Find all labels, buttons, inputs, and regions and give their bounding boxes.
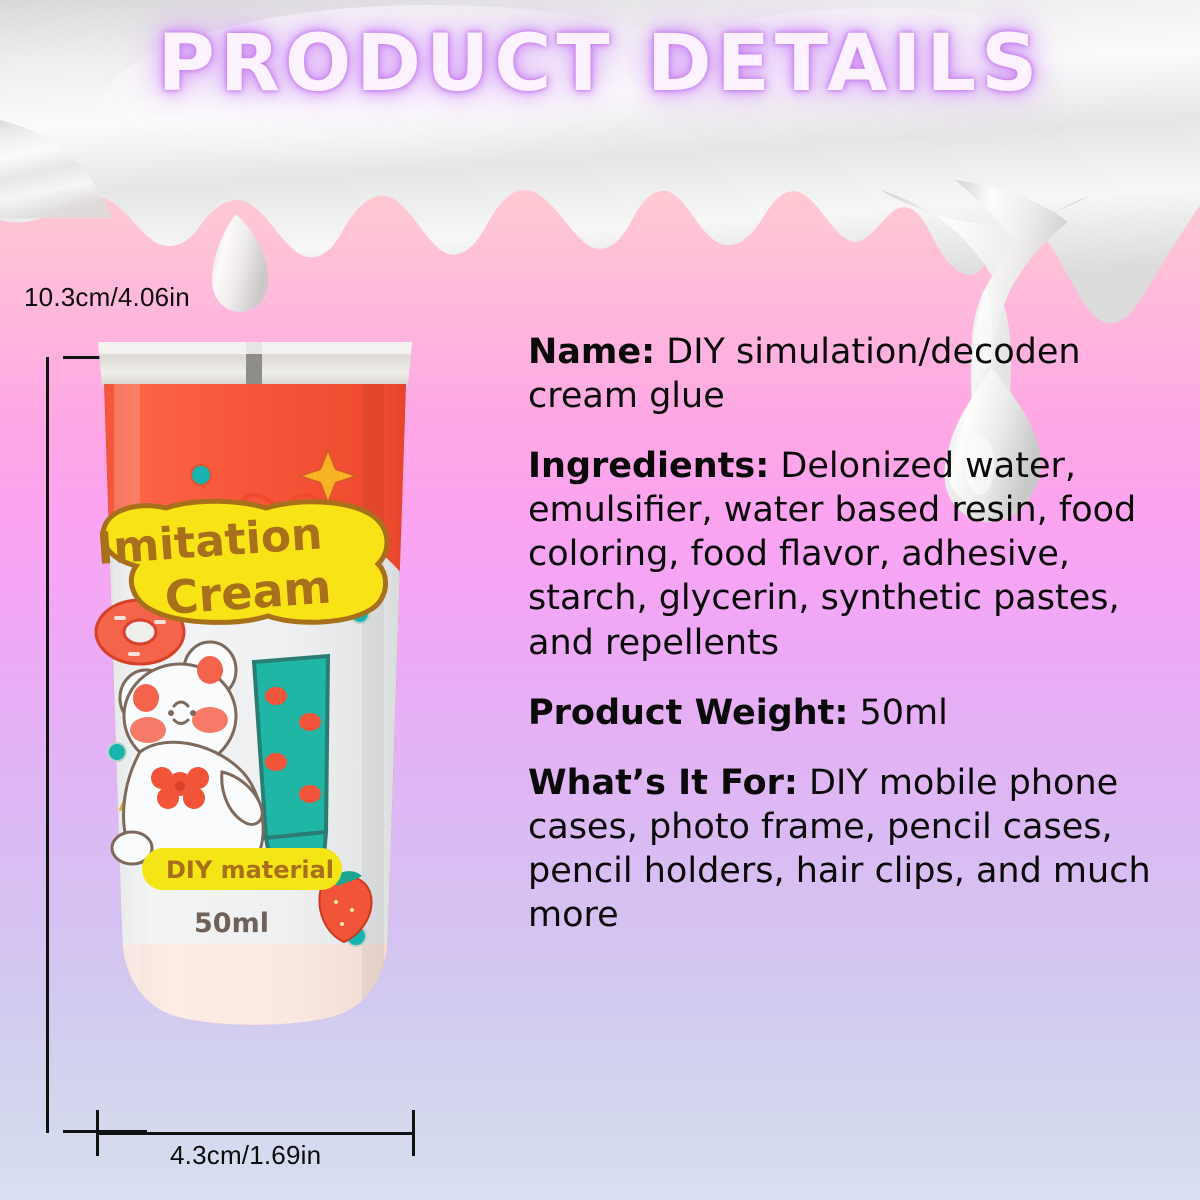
page-title: PRODUCT DETAILS [0,24,1200,106]
mini-tube-illustration [254,656,328,860]
tube-crimp [98,342,412,386]
width-dimension-cap-left [96,1110,99,1156]
detail-paragraph-name: Name: DIY simulation/decoden cream glue [528,330,1178,418]
width-dimension-label: 4.3cm/1.69in [170,1140,321,1171]
detail-paragraph-usage: What’s It For: DIY mobile phone cases, p… [528,761,1178,937]
width-dimension-line [97,1132,415,1135]
width-dimension-cap-right [412,1110,415,1156]
detail-paragraph-weight: Product Weight: 50ml [528,691,1178,735]
product-details-text: Name: DIY simulation/decoden cream glue … [528,330,1178,937]
diy-material-label: DIY material [166,856,334,884]
detail-label-name: Name: [528,332,655,372]
product-details-page: PRODUCT DETAILS 10.3cm/4.06in 4.3cm/1.69… [0,0,1200,1200]
product-tube-image: Imitation Cream DIY material 50ml [70,332,440,1047]
volume-label: 50ml [194,908,269,939]
detail-label-ingredients: Ingredients: [528,446,769,486]
height-dimension-line [46,357,49,1133]
detail-label-usage: What’s It For: [528,763,798,803]
detail-paragraph-ingredients: Ingredients: Delonized water, emulsifier… [528,444,1178,664]
detail-label-weight: Product Weight: [528,693,848,733]
detail-value-weight: 50ml [848,693,947,733]
height-dimension-label: 10.3cm/4.06in [24,282,190,313]
